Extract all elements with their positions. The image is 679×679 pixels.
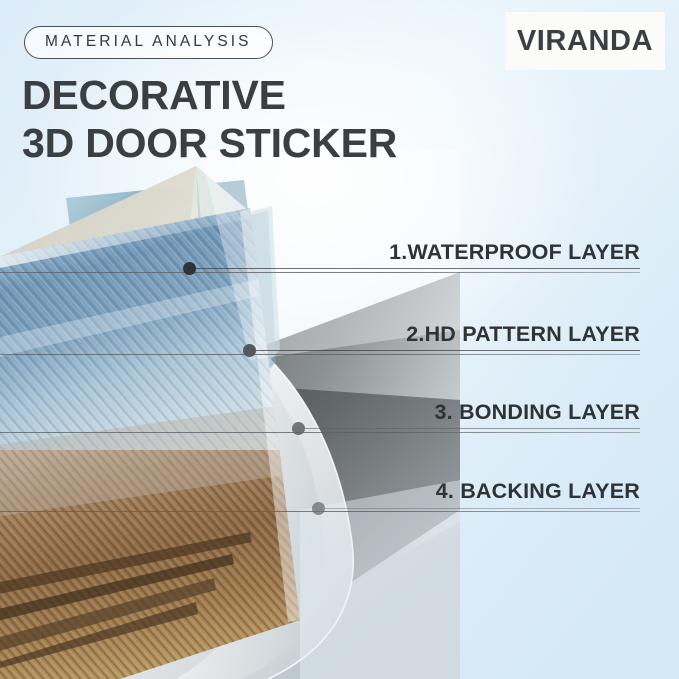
brand-name: VIRANDA <box>517 27 653 56</box>
material-analysis-infographic: MATERIAL ANALYSIS VIRANDA DECORATIVE 3D … <box>0 0 679 679</box>
callout-dot-4 <box>312 502 325 515</box>
callout-dot-2 <box>243 344 256 357</box>
leader-line-1 <box>196 268 640 269</box>
leader-line-3 <box>305 428 640 429</box>
callout-rule-2 <box>0 354 640 355</box>
callout-rule-1 <box>0 272 640 273</box>
leader-line-2 <box>256 350 640 351</box>
leader-line-4 <box>325 508 640 509</box>
brand-logo-box: VIRANDA <box>505 12 665 70</box>
callout-dot-3 <box>292 422 305 435</box>
page-title: DECORATIVE 3D DOOR STICKER <box>22 72 397 167</box>
callout-label-4: 4. BACKING LAYER <box>436 481 640 503</box>
callout-label-3: 3. BONDING LAYER <box>435 402 641 424</box>
callout-dot-1 <box>183 262 196 275</box>
sticker-artwork <box>0 150 460 679</box>
material-analysis-badge: MATERIAL ANALYSIS <box>24 26 273 59</box>
callout-label-2: 2.HD PATTERN LAYER <box>406 324 640 346</box>
callout-rule-3 <box>0 432 640 433</box>
callout-label-1: 1.WATERPROOF LAYER <box>389 242 640 264</box>
